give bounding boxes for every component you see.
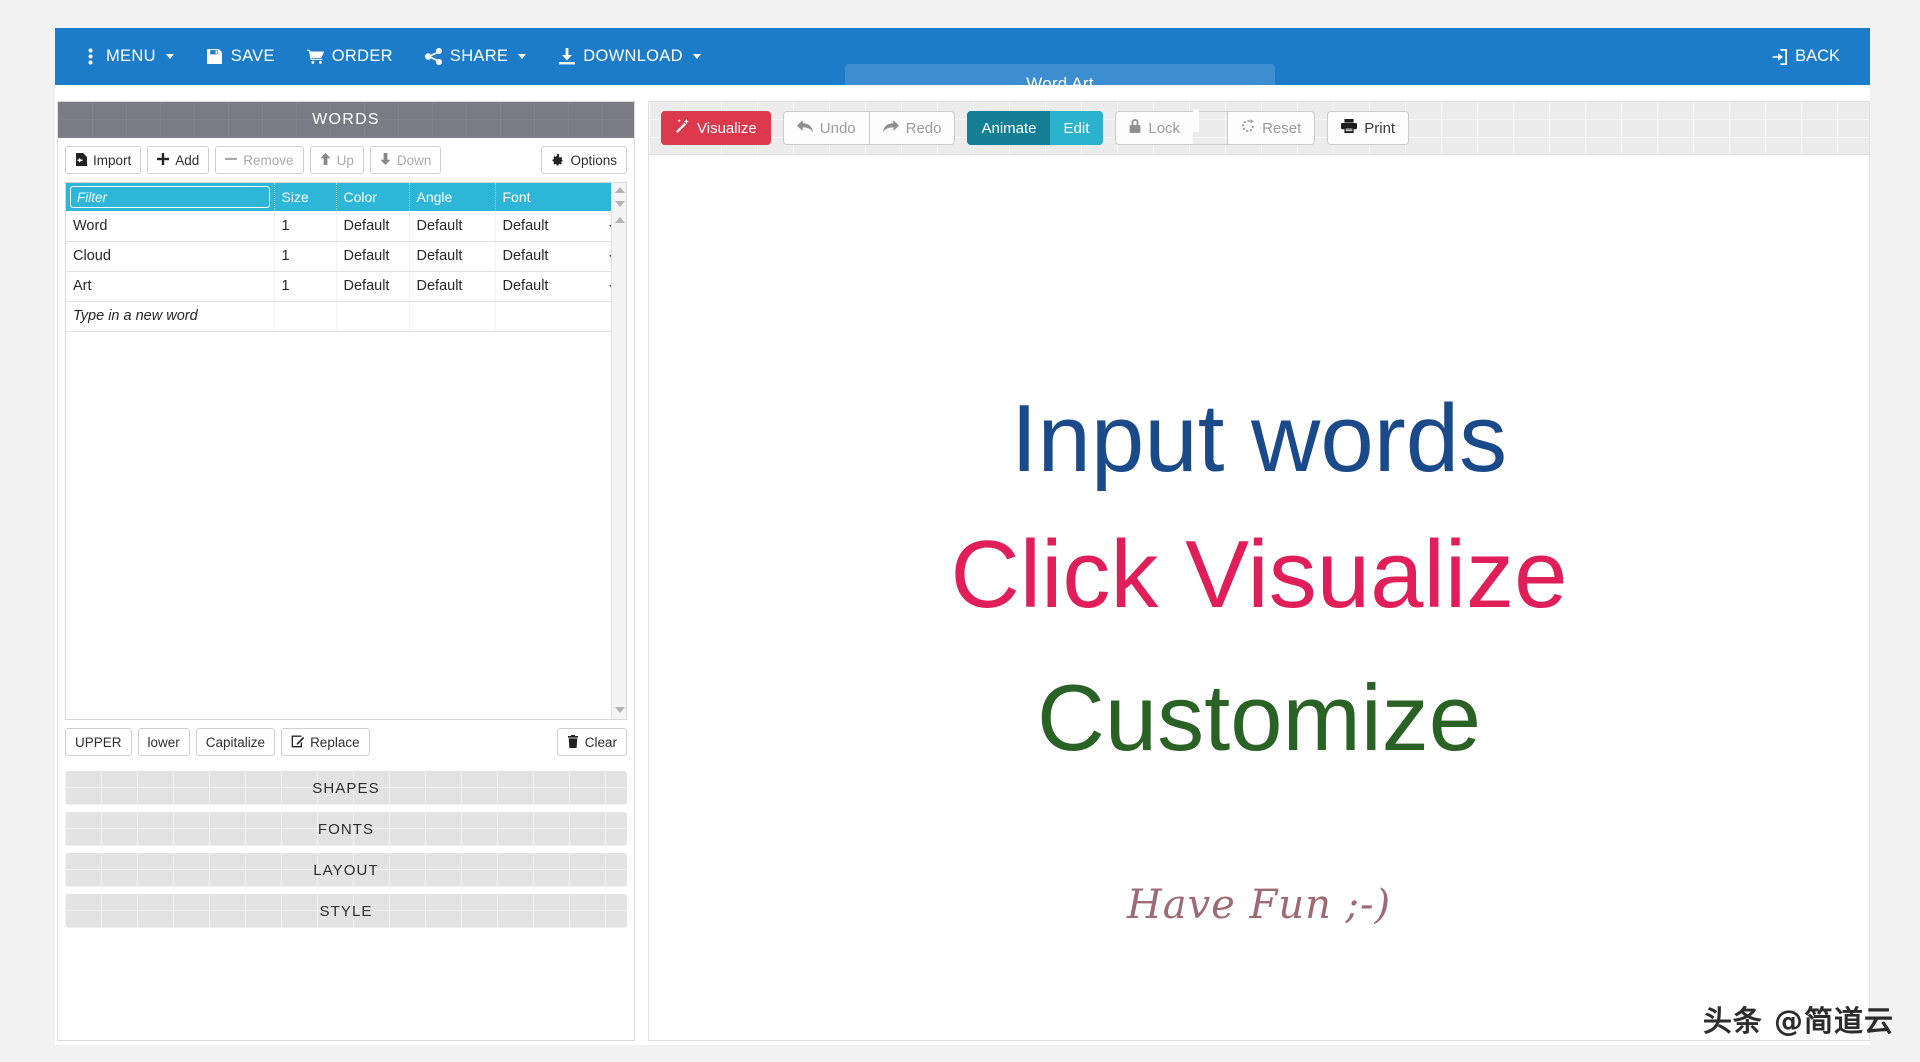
cell-font[interactable]: Default [495,241,626,271]
word-cloud-canvas[interactable]: Input words Click Visualize Customize Ha… [649,155,1869,1040]
printer-icon [1341,119,1357,137]
page-gutter-left [0,0,55,1062]
table-row[interactable]: Art 1 Default Default Default [66,271,626,301]
cell-color[interactable]: Default [336,241,409,271]
table-row[interactable]: Word 1 Default Default Default [66,211,626,241]
cell-angle[interactable]: Default [409,271,495,301]
background-color-swatch[interactable] [1193,111,1227,145]
nav-item-save[interactable]: SAVE [190,28,291,85]
arrow-right-icon [883,120,899,137]
cell-angle[interactable]: Default [409,211,495,241]
app-root: MENU SAVE ORDER SHARE DOWN [0,0,1920,1062]
column-header-angle[interactable]: Angle [409,183,495,211]
case-toolbar: UPPER lower Capitalize Replace Clear [58,720,634,764]
accordion-shapes[interactable]: SHAPES [65,771,627,805]
cell-color[interactable]: Default [336,211,409,241]
rotate-icon [1241,119,1255,137]
upper-case-button[interactable]: UPPER [65,728,132,756]
visualize-button[interactable]: Visualize [661,111,771,145]
cell-word[interactable]: Word [66,211,274,241]
lock-label: Lock [1148,120,1180,137]
accordion-shapes-label: SHAPES [312,780,379,797]
back-button[interactable]: BACK [1753,28,1856,85]
page-gutter-top [0,0,1920,28]
accordion-fonts[interactable]: FONTS [65,812,627,846]
chevron-down-icon [518,54,526,59]
word-table: Size Color Angle Font Word 1 Default Def… [65,182,627,720]
cell-font-value: Default [503,218,549,234]
words-toolbar: Import Add Remove Up [58,138,634,182]
nav-item-label: SAVE [231,47,275,66]
word-table-scrollbar[interactable] [611,183,626,719]
animate-edit-group: Animate Edit [967,111,1103,145]
move-down-button[interactable]: Down [370,146,442,174]
nav-item-label: SHARE [450,47,508,66]
redo-button[interactable]: Redo [869,111,956,145]
cell-size[interactable]: 1 [274,211,336,241]
print-button[interactable]: Print [1327,111,1409,145]
remove-label: Remove [243,153,293,168]
nav-item-menu[interactable]: MENU [65,28,190,85]
column-header-color[interactable]: Color [336,183,409,211]
words-panel-title: WORDS [312,111,380,129]
options-label: Options [570,153,617,168]
scroll-up-secondary-icon[interactable] [612,213,627,227]
filter-input[interactable] [70,186,270,208]
canvas-area: Visualize Undo Redo Anima [648,101,1870,1041]
reset-label: Reset [1262,120,1301,137]
lock-color-reset-group: Lock Reset [1115,111,1315,145]
filter-header-cell [66,183,274,211]
arrow-up-icon [320,153,331,167]
canvas-toolbar: Visualize Undo Redo Anima [649,102,1869,155]
back-button-label: BACK [1795,47,1840,66]
options-button[interactable]: Options [541,146,627,174]
cloud-word-have-fun[interactable]: Have Fun ;-) [1127,885,1391,925]
cart-icon [307,48,325,66]
move-down-label: Down [397,153,432,168]
page-gutter-right [1870,0,1920,1062]
edit-tab[interactable]: Edit [1050,111,1104,145]
cell-color[interactable]: Default [336,271,409,301]
download-icon [558,48,576,66]
scroll-up-icon[interactable] [612,183,627,197]
cell-size[interactable]: 1 [274,241,336,271]
move-up-button[interactable]: Up [310,146,364,174]
lock-icon [1129,119,1141,137]
sign-out-icon [1769,48,1787,66]
words-panel-header: WORDS [58,102,634,138]
cell-font-value: Default [503,278,549,294]
scroll-bottom-icon[interactable] [612,703,627,717]
nav-item-download[interactable]: DOWNLOAD [542,28,717,85]
cell-word[interactable]: Art [66,271,274,301]
undo-button[interactable]: Undo [783,111,869,145]
table-header-row: Size Color Angle Font [66,183,626,211]
cloud-word-click-visualize[interactable]: Click Visualize [950,527,1567,623]
import-button[interactable]: Import [65,146,141,174]
lower-case-button[interactable]: lower [138,728,190,756]
words-panel: WORDS Import Add Remove [57,101,635,1041]
file-import-icon [75,153,87,168]
accordion-fonts-label: FONTS [318,821,374,838]
nav-item-label: MENU [106,47,156,66]
accordion-layout-label: LAYOUT [313,862,379,879]
gear-icon [551,153,564,168]
accordion-style[interactable]: STYLE [65,894,627,928]
visualize-label: Visualize [697,120,757,137]
scroll-down-icon[interactable] [612,197,627,211]
add-label: Add [175,153,199,168]
nav-item-label: DOWNLOAD [583,47,683,66]
arrow-down-icon [380,153,391,167]
chevron-down-icon [693,54,701,59]
chevron-down-icon [166,54,174,59]
undo-redo-group: Undo Redo [783,111,956,145]
import-label: Import [93,153,131,168]
cell-size[interactable]: 1 [274,271,336,301]
replace-label: Replace [310,735,360,750]
add-button[interactable]: Add [147,146,209,174]
undo-label: Undo [820,120,856,137]
cell-font[interactable] [495,301,626,331]
capitalize-button[interactable]: Capitalize [196,728,275,756]
clear-button[interactable]: Clear [557,728,627,756]
nav-item-share[interactable]: SHARE [409,28,542,85]
cell-font[interactable]: Default [495,211,626,241]
nav-item-order[interactable]: ORDER [291,28,409,85]
clear-label: Clear [585,735,617,750]
page-title: Word Art [845,64,1275,104]
table-row[interactable]: Cloud 1 Default Default Default [66,241,626,271]
column-header-size[interactable]: Size [274,183,336,211]
animate-label: Animate [981,120,1036,137]
floppy-disk-icon [206,48,224,66]
arrow-left-icon [797,120,813,137]
cell-color[interactable] [336,301,409,331]
cell-angle[interactable]: Default [409,241,495,271]
remove-button[interactable]: Remove [215,146,303,174]
new-word-input[interactable]: Type in a new word [66,301,274,331]
accordion-layout[interactable]: LAYOUT [65,853,627,887]
accordion-style-label: STYLE [319,903,372,920]
lower-case-label: lower [148,735,180,750]
replace-button[interactable]: Replace [281,728,370,756]
cell-angle[interactable] [409,301,495,331]
cell-font-value: Default [503,248,549,264]
capitalize-label: Capitalize [206,735,265,750]
edit-label: Edit [1064,120,1090,137]
pen-square-icon [291,735,304,750]
new-word-row[interactable]: Type in a new word [66,301,626,331]
page-title-text: Word Art [1026,74,1093,94]
move-up-label: Up [337,153,354,168]
print-label: Print [1364,120,1395,137]
cell-size[interactable] [274,301,336,331]
reset-button[interactable]: Reset [1227,111,1315,145]
cell-font[interactable]: Default [495,271,626,301]
top-navbar: MENU SAVE ORDER SHARE DOWN [55,28,1870,85]
magic-wand-icon [675,119,690,138]
nav-item-label: ORDER [332,47,393,66]
lock-button[interactable]: Lock [1115,111,1193,145]
upper-case-label: UPPER [75,735,122,750]
column-header-font[interactable]: Font [495,183,626,211]
cloud-word-customize[interactable]: Customize [1037,671,1481,765]
kebab-menu-icon [81,48,99,66]
trash-icon [567,735,579,750]
share-nodes-icon [425,48,443,66]
redo-label: Redo [906,120,942,137]
cell-word[interactable]: Cloud [66,241,274,271]
cloud-word-input-words[interactable]: Input words [1011,391,1507,487]
minus-icon [225,153,237,167]
background-color-swatch-fill [1193,109,1199,132]
animate-tab[interactable]: Animate [967,111,1049,145]
plus-icon [157,153,169,167]
page-gutter-bottom [0,1045,1920,1062]
